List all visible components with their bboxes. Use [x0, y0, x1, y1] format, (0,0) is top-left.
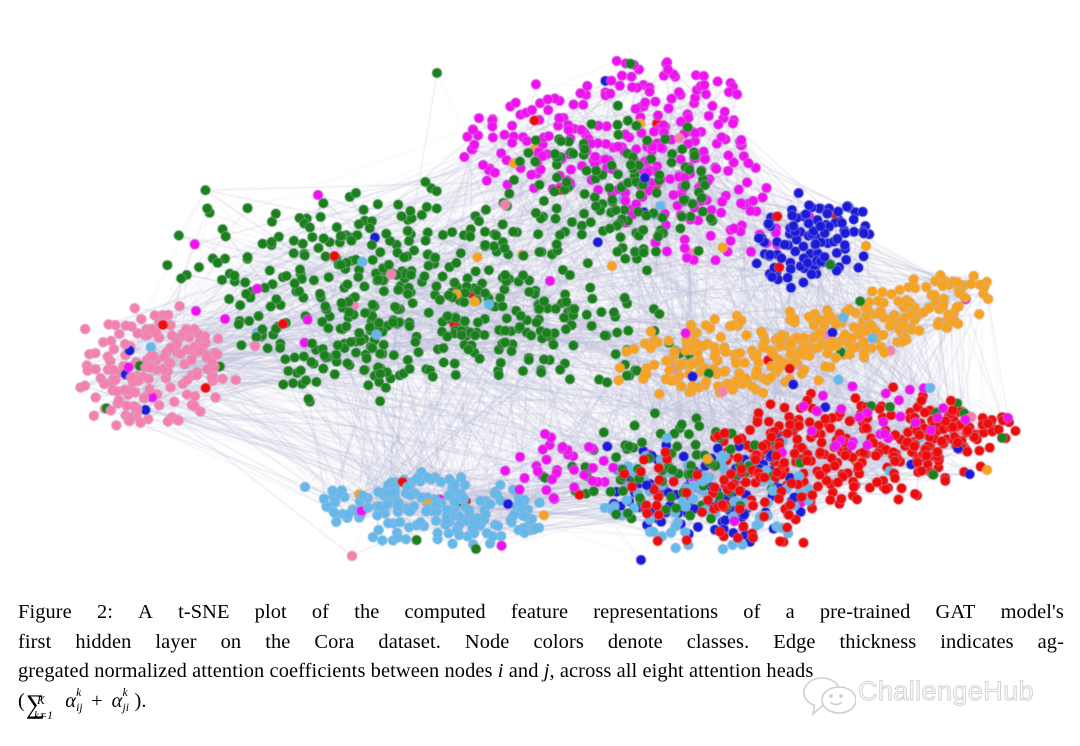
- alpha2-subscript: ji: [122, 693, 129, 723]
- caption-line-2: firsthiddenlayerontheCoradataset.Nodecol…: [18, 628, 1064, 658]
- caption-word: t-SNE: [178, 598, 229, 628]
- caption-word: Cora: [314, 628, 354, 658]
- caption-line-1: Figure2:At-SNEplotofthecomputedfeaturere…: [18, 598, 1064, 628]
- caption-word: computed: [405, 598, 486, 628]
- caption-word: A: [138, 598, 153, 628]
- caption-line-3-text-c: , across all eight attention heads: [549, 660, 813, 682]
- alpha1-subscript: ij: [76, 693, 83, 723]
- figure-caption: Figure2:At-SNEplotofthecomputedfeaturere…: [18, 598, 1064, 722]
- alpha-ji-term: αkji: [112, 687, 123, 717]
- caption-word: the: [354, 598, 379, 628]
- caption-word: on: [221, 628, 242, 658]
- formula-close-paren: ).: [134, 690, 146, 712]
- caption-word: model's: [1001, 598, 1064, 628]
- caption-word: GAT: [936, 598, 976, 628]
- alpha-symbol-2: α: [112, 690, 123, 712]
- caption-line-3: gregated normalized attention coefficien…: [18, 657, 1064, 687]
- caption-word: feature: [511, 598, 568, 628]
- caption-word: thickness: [840, 628, 917, 658]
- caption-word: hidden: [75, 628, 131, 658]
- formula-open-paren: (: [18, 690, 25, 712]
- caption-word: of: [312, 598, 329, 628]
- figure-panel: [0, 0, 1080, 596]
- caption-word: denote: [608, 628, 663, 658]
- caption-word: representations: [593, 598, 718, 628]
- attention-sum-formula: (∑Kk=1αkij+αkji).: [18, 687, 147, 723]
- alpha-ij-term: αkij: [65, 687, 76, 717]
- summation-operator: ∑Kk=1: [26, 693, 45, 723]
- caption-word: layer: [155, 628, 196, 658]
- caption-word: plot: [255, 598, 287, 628]
- caption-word: classes.: [687, 628, 750, 658]
- caption-word: the: [265, 628, 290, 658]
- caption-word: of: [743, 598, 760, 628]
- caption-line-3-text-b: and: [509, 660, 539, 682]
- caption-word: indicates: [940, 628, 1013, 658]
- caption-formula-line: (∑Kk=1αkij+αkji).: [18, 687, 1064, 723]
- caption-word: 2:: [97, 598, 113, 628]
- caption-word: Edge: [773, 628, 815, 658]
- caption-word: colors: [533, 628, 583, 658]
- caption-word: Figure: [18, 598, 72, 628]
- caption-word: Node: [465, 628, 510, 658]
- caption-line-3-text-a: gregated normalized attention coefficien…: [18, 660, 493, 682]
- caption-word: ag-: [1038, 628, 1064, 658]
- formula-plus: +: [91, 690, 103, 712]
- caption-var-i: i: [498, 660, 504, 682]
- sum-lower-limit: k=1: [34, 701, 53, 731]
- caption-word: dataset.: [378, 628, 441, 658]
- alpha-symbol-1: α: [65, 690, 76, 712]
- caption-word: pre-trained: [820, 598, 911, 628]
- tsne-scatter-plot: [0, 0, 1080, 596]
- caption-word: a: [786, 598, 795, 628]
- caption-word: first: [18, 628, 51, 658]
